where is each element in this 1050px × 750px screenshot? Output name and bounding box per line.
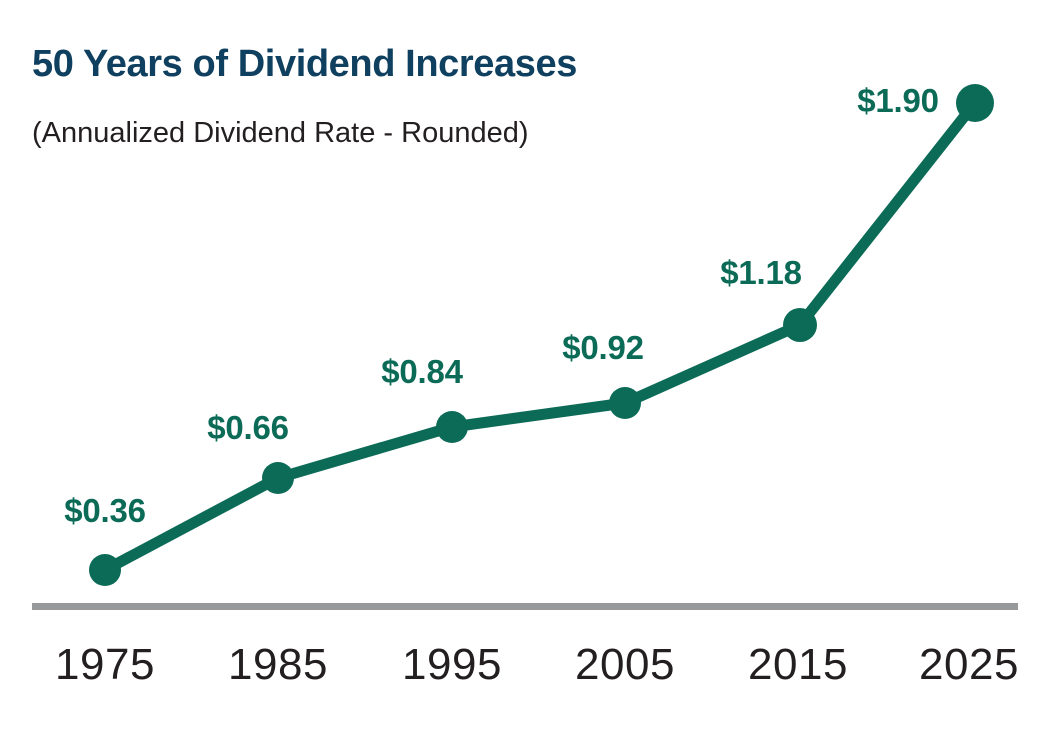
data-point-marker[interactable] bbox=[609, 387, 641, 419]
x-axis-tick-label: 2025 bbox=[919, 640, 1019, 690]
x-axis-tick-label: 1975 bbox=[55, 640, 155, 690]
chart-canvas: 50 Years of Dividend Increases (Annualiz… bbox=[0, 0, 1050, 750]
x-axis-tick-label: 2005 bbox=[575, 640, 675, 690]
plot-area: $0.36 $0.66 $0.84 $0.92 $1.18 $1.90 bbox=[0, 0, 1050, 750]
data-point-marker[interactable] bbox=[436, 411, 468, 443]
data-point-label: $1.18 bbox=[720, 254, 802, 292]
data-point-marker[interactable] bbox=[956, 84, 994, 122]
data-point-marker[interactable] bbox=[783, 308, 817, 342]
x-axis-tick-label: 1985 bbox=[228, 640, 328, 690]
x-axis-tick-label: 2015 bbox=[748, 640, 848, 690]
data-point-marker[interactable] bbox=[89, 554, 121, 586]
data-point-label: $0.84 bbox=[381, 353, 463, 391]
data-point-marker[interactable] bbox=[262, 462, 294, 494]
data-point-label: $0.36 bbox=[64, 492, 146, 530]
series-line bbox=[105, 103, 975, 570]
data-point-label: $1.90 bbox=[857, 82, 939, 120]
data-point-label: $0.92 bbox=[562, 329, 644, 367]
x-axis-tick-label: 1995 bbox=[402, 640, 502, 690]
x-axis-line bbox=[32, 603, 1018, 610]
data-point-label: $0.66 bbox=[207, 409, 289, 447]
